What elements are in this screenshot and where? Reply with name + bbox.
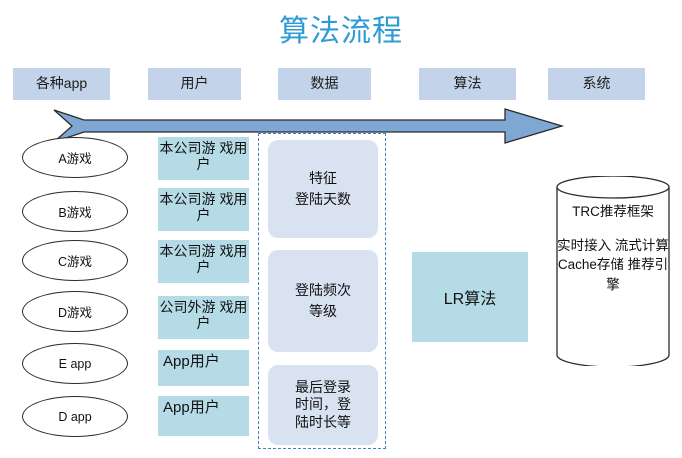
user-box[interactable]: App用户 [158, 396, 249, 436]
app-label: D游戏 [58, 302, 92, 321]
column-header-apps: 各种app [13, 68, 110, 100]
column-header-users: 用户 [148, 68, 241, 100]
column-header-label: 算法 [454, 76, 482, 91]
user-label-line1: App用户 [163, 399, 220, 416]
system-title: TRC推荐框架 [572, 204, 654, 219]
system-line-3: Cache存储 [558, 257, 624, 272]
user-label-line1: 本公司游 [160, 140, 216, 156]
user-label-line1: 本公司游 [160, 243, 216, 259]
column-header-label: 用户 [181, 76, 209, 91]
data-feature-line1: 登陆频次 [295, 280, 351, 301]
app-ellipse[interactable]: E app [22, 343, 128, 384]
user-box[interactable]: 本公司游 戏用户 [158, 137, 249, 180]
data-feature-line2: 时间，登 [295, 396, 351, 414]
app-label: D app [58, 410, 91, 424]
app-ellipse[interactable]: A游戏 [22, 137, 128, 178]
column-header-system: 系统 [548, 68, 645, 100]
page-title: 算法流程 [0, 6, 682, 50]
algorithm-label: LR算法 [444, 285, 496, 309]
system-line-2: 流式计算 [615, 238, 669, 253]
column-header-label: 数据 [311, 76, 339, 91]
column-header-label: 各种app [36, 76, 87, 91]
app-ellipse[interactable]: B游戏 [22, 191, 128, 232]
user-label-line1: App用户 [163, 353, 220, 370]
app-label: E app [59, 357, 92, 371]
app-label: B游戏 [58, 202, 91, 221]
user-box[interactable]: 公司外游 戏用户 [158, 296, 249, 339]
app-label: A游戏 [58, 148, 91, 167]
system-cylinder-text: TRC推荐框架 实时接入 流式计算 Cache存储 推荐引擎 [556, 202, 670, 294]
app-ellipse[interactable]: D app [22, 396, 128, 437]
column-header-label: 系统 [583, 76, 611, 91]
app-ellipse[interactable]: D游戏 [22, 291, 128, 332]
app-ellipse[interactable]: C游戏 [22, 240, 128, 281]
column-header-algorithm: 算法 [419, 68, 516, 100]
column-header-data: 数据 [278, 68, 371, 100]
data-feature-line2: 登陆天数 [295, 189, 351, 210]
data-feature-line1: 特征 [309, 168, 337, 189]
data-feature-line3: 陆时长等 [295, 414, 351, 432]
data-feature-line2: 等级 [309, 301, 337, 322]
user-label-line1: 本公司游 [160, 191, 216, 207]
system-line-1: 实时接入 [557, 238, 611, 253]
user-box[interactable]: 本公司游 戏用户 [158, 240, 249, 283]
data-feature-box[interactable]: 特征 登陆天数 [268, 140, 378, 238]
algorithm-box[interactable]: LR算法 [412, 252, 528, 342]
user-label-line1: 公司外游 [160, 299, 216, 315]
data-feature-box[interactable]: 最后登录 时间，登 陆时长等 [268, 365, 378, 445]
system-text-gap [556, 222, 670, 236]
app-label: C游戏 [58, 251, 92, 270]
user-box[interactable]: App用户 [158, 350, 249, 386]
diagram-canvas: 算法流程 各种app 用户 数据 算法 系统 A游戏 B游戏 C游戏 D游戏 E… [0, 0, 682, 458]
data-feature-line1: 最后登录 [295, 379, 351, 397]
data-feature-box[interactable]: 登陆频次 等级 [268, 250, 378, 352]
user-box[interactable]: 本公司游 戏用户 [158, 188, 249, 231]
system-cylinder[interactable]: TRC推荐框架 实时接入 流式计算 Cache存储 推荐引擎 [556, 176, 670, 366]
